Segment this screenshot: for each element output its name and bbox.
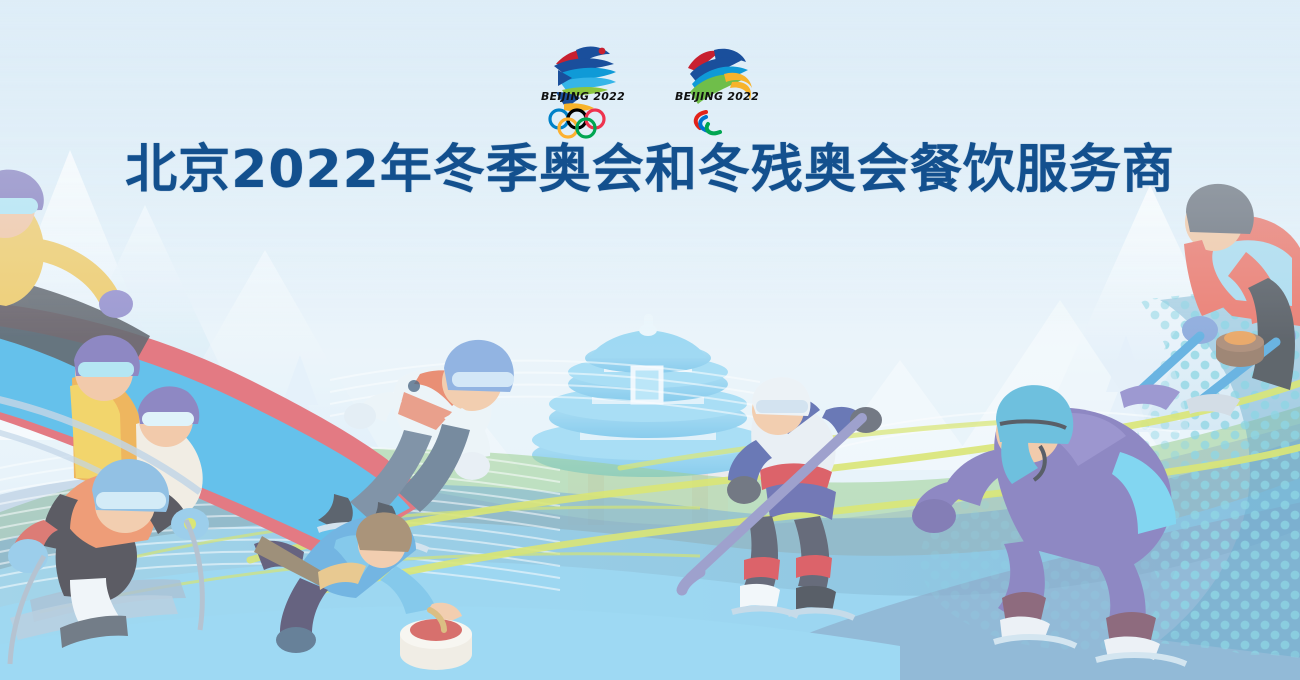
beijing-2022-paralympic-emblem: BEIJING 2022: [662, 34, 772, 134]
agitos-icon: [662, 106, 772, 140]
emblem-row: BEIJING 2022: [0, 34, 1300, 134]
olympic-wordmark: BEIJING 2022: [526, 91, 640, 103]
olympic-banner: BEIJING 2022: [0, 0, 1300, 680]
beijing-2022-olympic-emblem: BEIJING 2022: [528, 34, 638, 134]
paralympic-wordmark: BEIJING 2022: [660, 91, 774, 103]
olympic-rings-icon: [528, 106, 638, 140]
page-title: 北京2022年冬季奥会和冬残奥会餐饮服务商: [0, 143, 1300, 198]
